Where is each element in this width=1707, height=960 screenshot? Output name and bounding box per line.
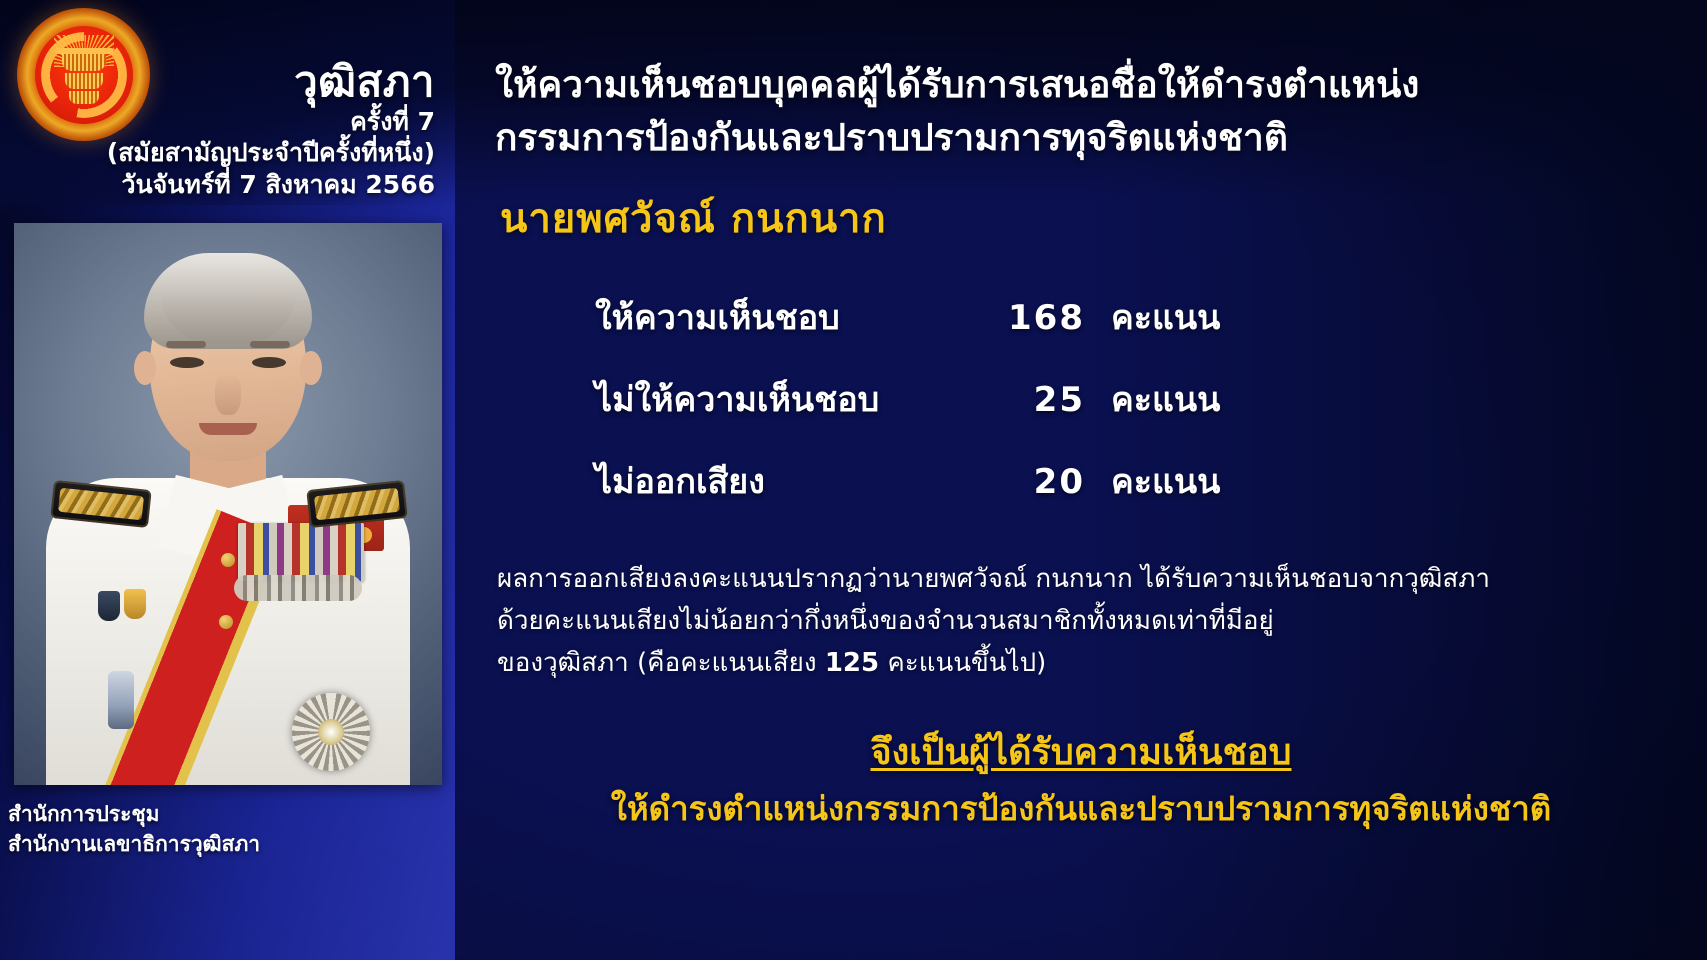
result-explanation-line-1: ผลการออกเสียงลงคะแนนปรากฏว่านายพศวัจณ์ ก… bbox=[497, 558, 1687, 600]
result-explanation-line-3: ของวุฒิสภา (คือคะแนนเสียง 125 คะแนนขึ้นไ… bbox=[497, 642, 1687, 684]
portrait-lapel-pin-c bbox=[108, 671, 134, 729]
session-date: วันจันทร์ที่ 7 สิงหาคม 2566 bbox=[105, 169, 435, 200]
agenda-title: ให้ความเห็นชอบบุคคลผู้ได้รับการเสนอชื่อใ… bbox=[495, 58, 1675, 165]
vote-count-approve: 168 bbox=[965, 298, 1085, 338]
portrait-eyebrow-right bbox=[250, 341, 290, 348]
portrait-eyebrow-left bbox=[166, 341, 206, 348]
main-content: ให้ความเห็นชอบบุคคลผู้ได้รับการเสนอชื่อใ… bbox=[455, 0, 1707, 960]
session-type: (สมัยสามัญประจำปีครั้งที่หนึ่ง) bbox=[105, 137, 435, 168]
session-header: วุฒิสภา ครั้งที่ 7 (สมัยสามัญประจำปีครั้… bbox=[105, 60, 435, 200]
portrait-eye-left bbox=[170, 357, 204, 368]
candidate-name: นายพศวัจณ์ กนกนาก bbox=[500, 186, 887, 250]
portrait-lapel-pin-a bbox=[98, 591, 120, 621]
vote-unit-abstain: คะแนน bbox=[1111, 454, 1220, 508]
portrait-mouth bbox=[199, 423, 257, 435]
vote-row-disapprove: ไม่ให้ความเห็นชอบ 25 คะแนน bbox=[595, 372, 1295, 426]
vote-label-approve: ให้ความเห็นชอบ bbox=[595, 290, 965, 344]
portrait-medal-row bbox=[234, 575, 362, 601]
result-explanation: ผลการออกเสียงลงคะแนนปรากฏว่านายพศวัจณ์ ก… bbox=[497, 558, 1687, 684]
portrait-button-1 bbox=[221, 553, 235, 567]
result-explanation-line-2: ด้วยคะแนนเสียงไม่น้อยกว่ากึ่งหนึ่งของจำน… bbox=[497, 600, 1687, 642]
office-footer: สำนักการประชุม สำนักงานเลขาธิการวุฒิสภา bbox=[8, 800, 260, 860]
vote-row-approve: ให้ความเห็นชอบ 168 คะแนน bbox=[595, 290, 1295, 344]
portrait-hair bbox=[144, 253, 312, 349]
slide-root: วุฒิสภา ครั้งที่ 7 (สมัยสามัญประจำปีครั้… bbox=[0, 0, 1707, 960]
senate-title: วุฒิสภา bbox=[105, 60, 435, 104]
conclusion-line-1: จึงเป็นผู้ได้รับความเห็นชอบ bbox=[455, 726, 1707, 780]
vote-count-abstain: 20 bbox=[965, 462, 1085, 502]
threshold-prefix: ของวุฒิสภา (คือคะแนนเสียง bbox=[497, 648, 825, 678]
threshold-suffix: คะแนนขึ้นไป) bbox=[879, 648, 1046, 678]
portrait-button-2 bbox=[219, 615, 233, 629]
vote-count-disapprove: 25 bbox=[965, 380, 1085, 420]
threshold-number: 125 bbox=[825, 648, 879, 678]
left-panel: วุฒิสภา ครั้งที่ 7 (สมัยสามัญประจำปีครั้… bbox=[0, 0, 455, 960]
conclusion-block: จึงเป็นผู้ได้รับความเห็นชอบ ให้ดำรงตำแหน… bbox=[455, 726, 1707, 834]
footer-line-2: สำนักงานเลขาธิการวุฒิสภา bbox=[8, 830, 260, 860]
agenda-title-line-2: กรรมการป้องกันและปราบปรามการทุจริตแห่งชา… bbox=[495, 111, 1675, 164]
vote-label-disapprove: ไม่ให้ความเห็นชอบ bbox=[595, 372, 965, 426]
portrait-ribbon-bar bbox=[238, 523, 364, 581]
conclusion-line-2: ให้ดำรงตำแหน่งกรรมการป้องกันและปราบปรามก… bbox=[455, 784, 1707, 834]
vote-tally-table: ให้ความเห็นชอบ 168 คะแนน ไม่ให้ความเห็นช… bbox=[595, 290, 1295, 536]
vote-label-abstain: ไม่ออกเสียง bbox=[595, 454, 965, 508]
candidate-portrait-photo bbox=[14, 223, 442, 785]
vote-unit-disapprove: คะแนน bbox=[1111, 372, 1220, 426]
agenda-title-line-1: ให้ความเห็นชอบบุคคลผู้ได้รับการเสนอชื่อใ… bbox=[495, 58, 1675, 111]
portrait-ear-right bbox=[300, 351, 322, 385]
portrait-ear-left bbox=[134, 351, 156, 385]
vote-unit-approve: คะแนน bbox=[1111, 290, 1220, 344]
footer-line-1: สำนักการประชุม bbox=[8, 800, 260, 830]
session-number: ครั้งที่ 7 bbox=[105, 106, 435, 137]
vote-row-abstain: ไม่ออกเสียง 20 คะแนน bbox=[595, 454, 1295, 508]
portrait-breast-star bbox=[292, 693, 370, 771]
portrait-nose bbox=[215, 373, 241, 415]
portrait-eye-right bbox=[252, 357, 286, 368]
portrait-lapel-pin-b bbox=[124, 589, 146, 619]
